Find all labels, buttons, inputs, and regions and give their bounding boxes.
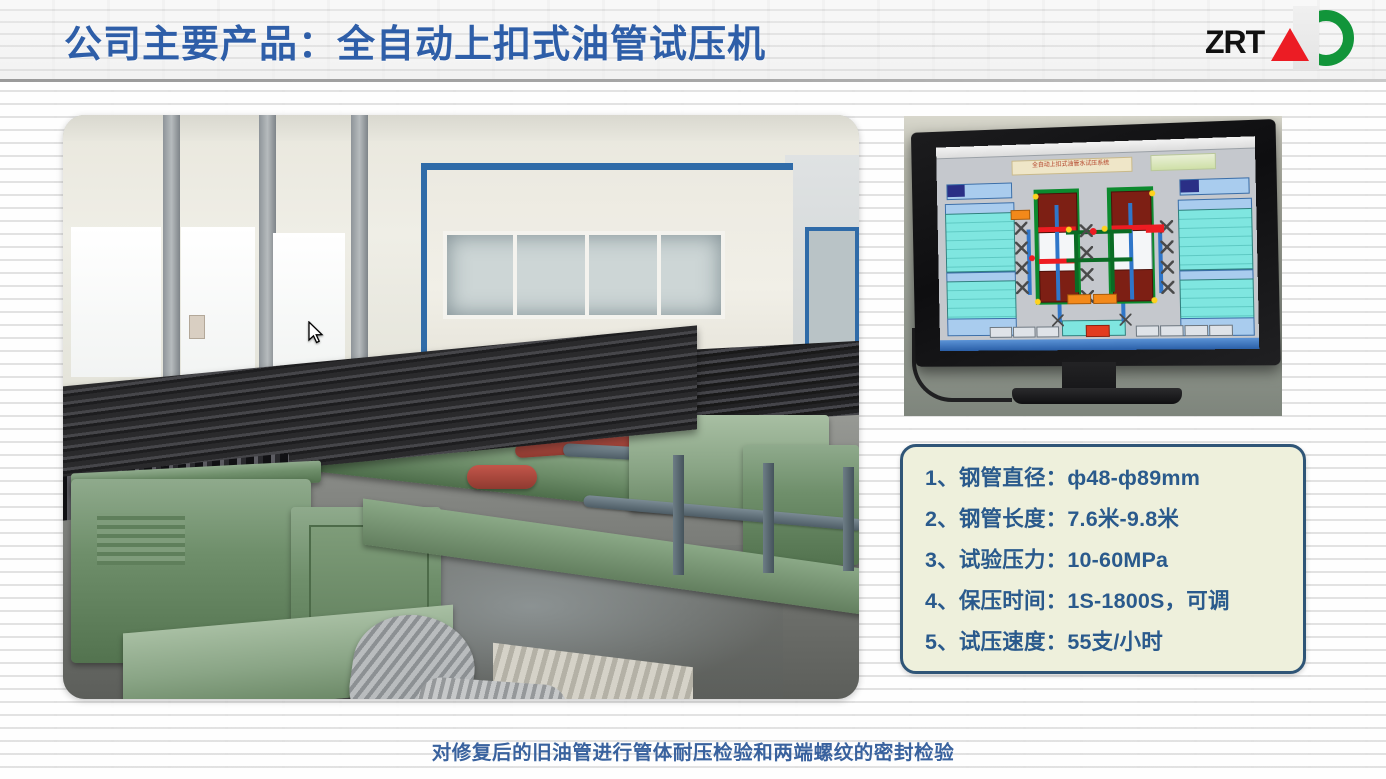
wall-outlet (189, 315, 205, 339)
hmi-header-cell (1180, 180, 1199, 193)
monitor-screen: 全自动上扣式油管水试压系统 (936, 136, 1259, 351)
spec-item-4: 4、保压时间：1S-1800S，可调 (903, 581, 1303, 622)
hmi-valve-icon (1015, 222, 1028, 235)
hmi-button[interactable] (1209, 325, 1233, 336)
window-mullion (585, 231, 589, 319)
hmi-valve-icon (1161, 261, 1174, 274)
green-machine-unit (743, 445, 859, 565)
hmi-application: 全自动上扣式油管水试压系统 (936, 136, 1259, 351)
factory-production-line-photo (63, 115, 859, 699)
hmi-valve-icon (1015, 241, 1028, 254)
hmi-valve-icon (1080, 246, 1093, 259)
right-door (805, 227, 859, 357)
window-opening (273, 233, 345, 373)
machine-vent-louvers (97, 513, 185, 565)
hmi-status-lamp (1035, 299, 1041, 305)
spec-item-1: 1、钢管直径：ф48-ф89mm (903, 458, 1303, 499)
rail-post (673, 455, 684, 575)
hmi-label-tag (1067, 294, 1091, 304)
control-system-monitor-photo: 全自动上扣式油管水试压系统 (904, 116, 1282, 416)
hmi-button[interactable] (990, 327, 1013, 338)
hmi-status-lamp (1151, 297, 1157, 303)
hmi-valve-icon (1015, 261, 1028, 274)
hmi-button[interactable] (1036, 326, 1059, 337)
steel-column (163, 115, 180, 415)
hmi-data-table (945, 212, 1016, 273)
hmi-valve-icon (1052, 314, 1064, 326)
hmi-button[interactable] (1136, 325, 1159, 336)
hmi-button[interactable] (1184, 325, 1208, 336)
hmi-label-tag (1093, 294, 1117, 304)
mouse-pointer-icon (308, 321, 324, 345)
monitor-base (1012, 388, 1182, 404)
hmi-data-table (1178, 208, 1253, 271)
specifications-box: 1、钢管直径：ф48-ф89mm 2、钢管长度：7.6米-9.8米 3、试验压力… (900, 444, 1306, 674)
hmi-valve-icon (1119, 314, 1131, 326)
hmi-valve-icon (1161, 281, 1174, 294)
page-title: 公司主要产品：全自动上扣式油管试压机 (64, 13, 766, 68)
hmi-data-table (1179, 278, 1254, 320)
hmi-header-cell (947, 185, 964, 197)
hmi-stop-button[interactable] (1086, 325, 1110, 337)
red-cylinder (467, 465, 537, 489)
window-mullion (657, 231, 661, 319)
hmi-label-tag (1011, 210, 1031, 220)
window-opening (181, 227, 255, 377)
hmi-button[interactable] (1013, 327, 1036, 338)
rail-post (763, 463, 774, 573)
hmi-label-tag (1146, 224, 1164, 232)
rail-post (843, 467, 854, 571)
window-mullion (513, 231, 517, 319)
hmi-alarm-lamp (1029, 255, 1035, 261)
logo-text: ZRT (1205, 24, 1264, 61)
company-logo: ZRT (1205, 8, 1355, 70)
workshop-ceiling (63, 115, 859, 141)
hmi-valve-icon (1080, 224, 1093, 237)
hmi-valve-icon (1160, 240, 1173, 253)
hmi-valve-icon (1016, 281, 1029, 294)
window-opening (71, 227, 161, 377)
spec-item-3: 3、试验压力：10-60MPa (903, 540, 1303, 581)
slide-caption: 对修复后的旧油管进行管体耐压检验和两端螺纹的密封检验 (0, 736, 1386, 765)
spec-item-2: 2、钢管长度：7.6米-9.8米 (903, 499, 1303, 540)
hmi-valve-icon (1081, 268, 1094, 281)
presentation-slide: 公司主要产品：全自动上扣式油管试压机 ZRT (0, 0, 1386, 779)
hmi-taskbar[interactable] (940, 338, 1259, 351)
triangle-icon (1271, 28, 1309, 61)
spec-item-5: 5、试压速度：55支/小时 (903, 622, 1303, 663)
hmi-status-panel (1150, 153, 1216, 171)
header-divider-rule (0, 79, 1386, 82)
hmi-button[interactable] (1160, 325, 1184, 336)
office-window (443, 231, 725, 319)
hmi-data-table (946, 280, 1016, 320)
hmi-status-lamp (1149, 190, 1155, 196)
